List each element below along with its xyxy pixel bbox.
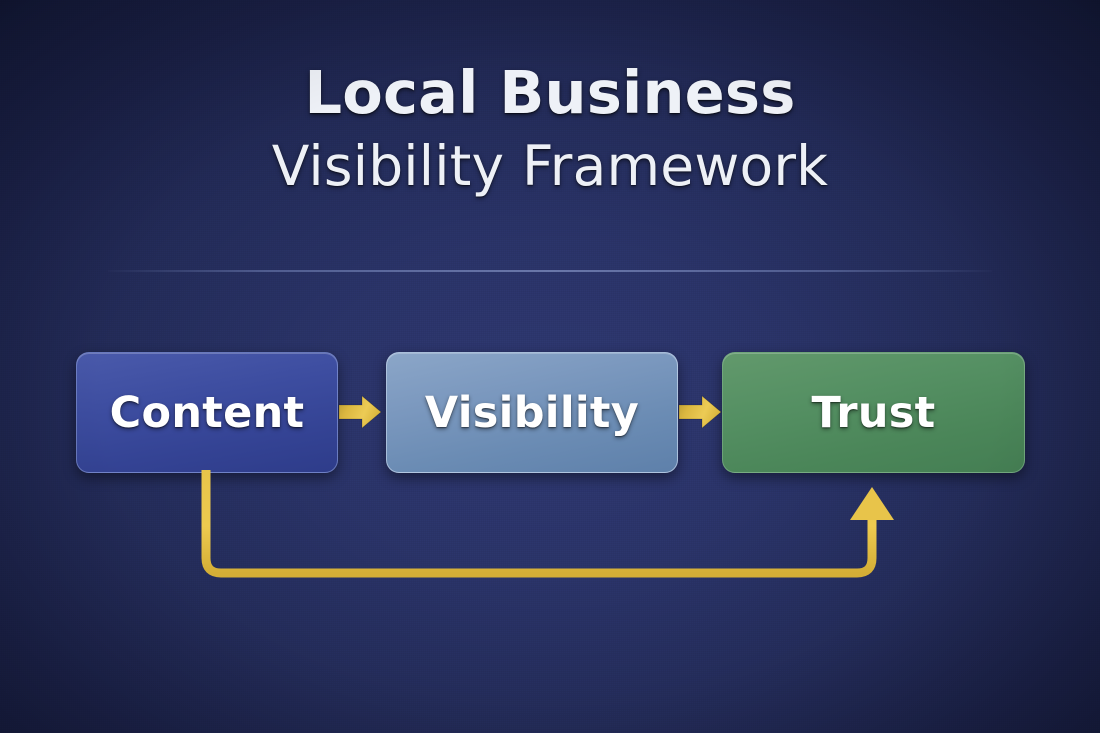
title-divider xyxy=(108,270,992,272)
flow-box-content[interactable]: Content xyxy=(76,352,338,473)
arrow-right-icon-visibility-to-trust xyxy=(678,390,722,434)
flow-box-content-label: Content xyxy=(110,388,305,438)
slide-title-subtitle: Visibility Framework xyxy=(0,137,1100,195)
flow-box-trust[interactable]: Trust xyxy=(722,352,1025,473)
flow-box-trust-label: Trust xyxy=(811,388,935,438)
arrow-right-icon-content-to-visibility xyxy=(338,390,382,434)
slide-canvas: Local Business Visibility Framework Cont… xyxy=(0,0,1100,733)
flow-box-visibility[interactable]: Visibility xyxy=(386,352,678,473)
flow-box-visibility-label: Visibility xyxy=(425,388,639,438)
slide-title-block: Local Business Visibility Framework xyxy=(0,62,1100,195)
slide-title-main: Local Business xyxy=(0,62,1100,125)
